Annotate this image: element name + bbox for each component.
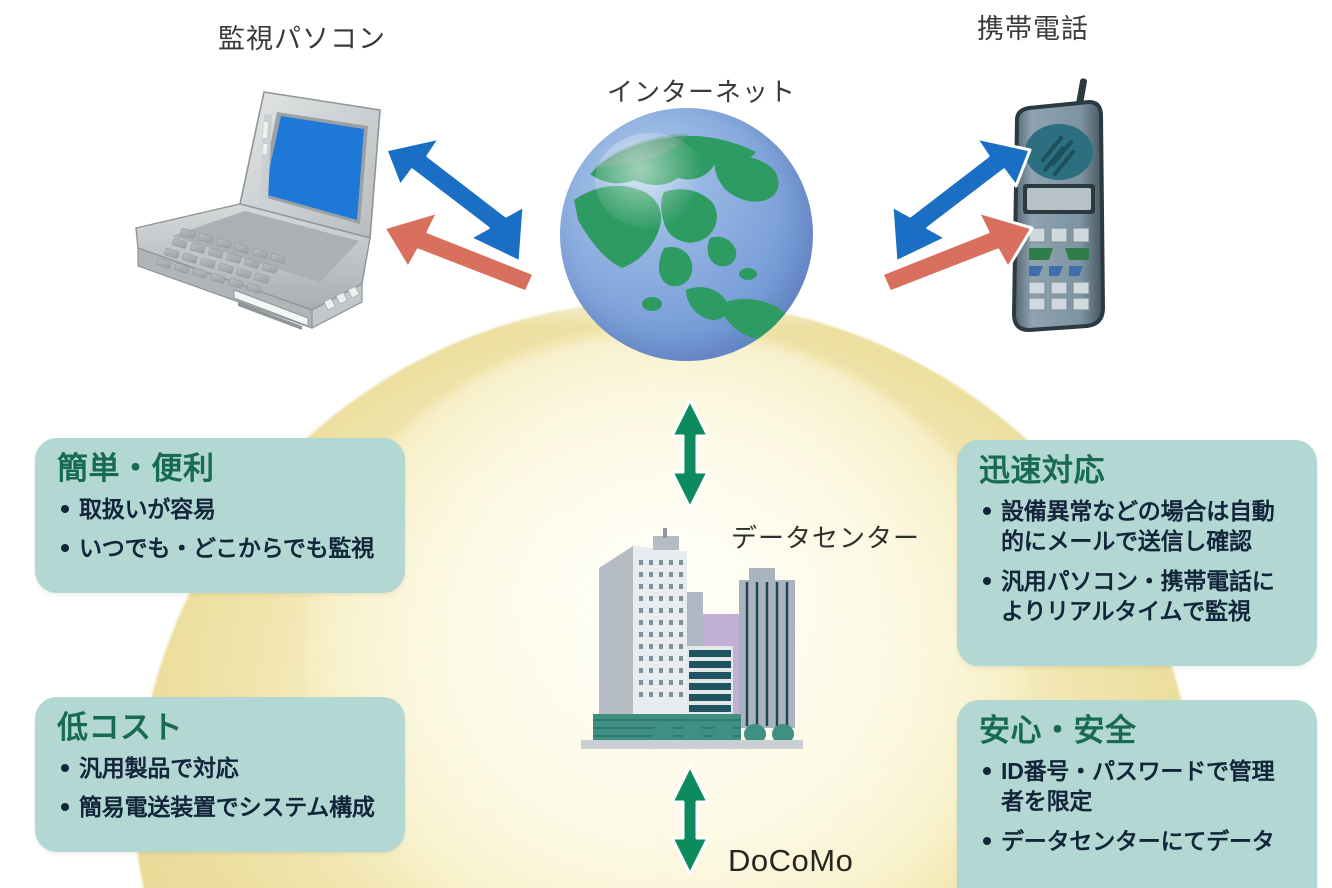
info-box-fast-heading: 迅速対応 [979, 454, 1297, 488]
info-box-fast-list: 設備異常などの場合は自動的にメールで送信し確認 汎用パソコン・携帯電話によりリア… [979, 496, 1297, 626]
list-item: 汎用製品で対応 [57, 753, 385, 783]
arrow-group-right [828, 128, 1038, 298]
info-box-cost-list: 汎用製品で対応 簡易電送装置でシステム構成 [57, 753, 385, 823]
info-box-cost-heading: 低コスト [57, 711, 385, 745]
info-box-easy-list: 取扱いが容易 いつでも・どこからでも監視 [57, 494, 385, 564]
info-box-safe-list: ID番号・パスワードで管理者を限定 データセンターにてデータ [979, 756, 1297, 856]
label-mobile-phone: 携帯電話 [977, 7, 1089, 46]
green-double-arrow-vertical-lower [668, 762, 712, 878]
info-box-fast-response: 迅速対応 設備異常などの場合は自動的にメールで送信し確認 汎用パソコン・携帯電話… [957, 440, 1317, 666]
label-internet: インターネット [607, 72, 796, 109]
green-double-arrow-vertical-upper [668, 396, 712, 512]
label-monitor-pc: 監視パソコン [218, 17, 386, 56]
info-box-cost: 低コスト 汎用製品で対応 簡易電送装置でシステム構成 [35, 697, 405, 852]
list-item: 設備異常などの場合は自動的にメールで送信し確認 [979, 496, 1297, 557]
info-box-easy: 簡単・便利 取扱いが容易 いつでも・どこからでも監視 [35, 438, 405, 593]
label-docomo: DoCoMo [728, 843, 853, 879]
info-box-safe-heading: 安心・安全 [979, 714, 1297, 748]
globe-icon [560, 108, 813, 361]
list-item: 簡易電送装置でシステム構成 [57, 792, 385, 822]
diagram-canvas: 監視パソコン 携帯電話 インターネット データセンター DoCoMo 簡単・便利… [0, 0, 1332, 888]
list-item: 取扱いが容易 [57, 494, 385, 524]
list-item: 汎用パソコン・携帯電話によりリアルタイムで監視 [979, 566, 1297, 627]
list-item: データセンターにてデータ [979, 826, 1297, 856]
label-data-center: データセンター [731, 518, 920, 555]
list-item: ID番号・パスワードで管理者を限定 [979, 756, 1297, 817]
data-center-buildings-icon [577, 528, 807, 761]
arrow-group-left [378, 128, 588, 298]
list-item: いつでも・どこからでも監視 [57, 533, 385, 563]
info-box-easy-heading: 簡単・便利 [57, 452, 385, 486]
laptop-icon [112, 78, 392, 345]
info-box-safety: 安心・安全 ID番号・パスワードで管理者を限定 データセンターにてデータ [957, 700, 1317, 888]
